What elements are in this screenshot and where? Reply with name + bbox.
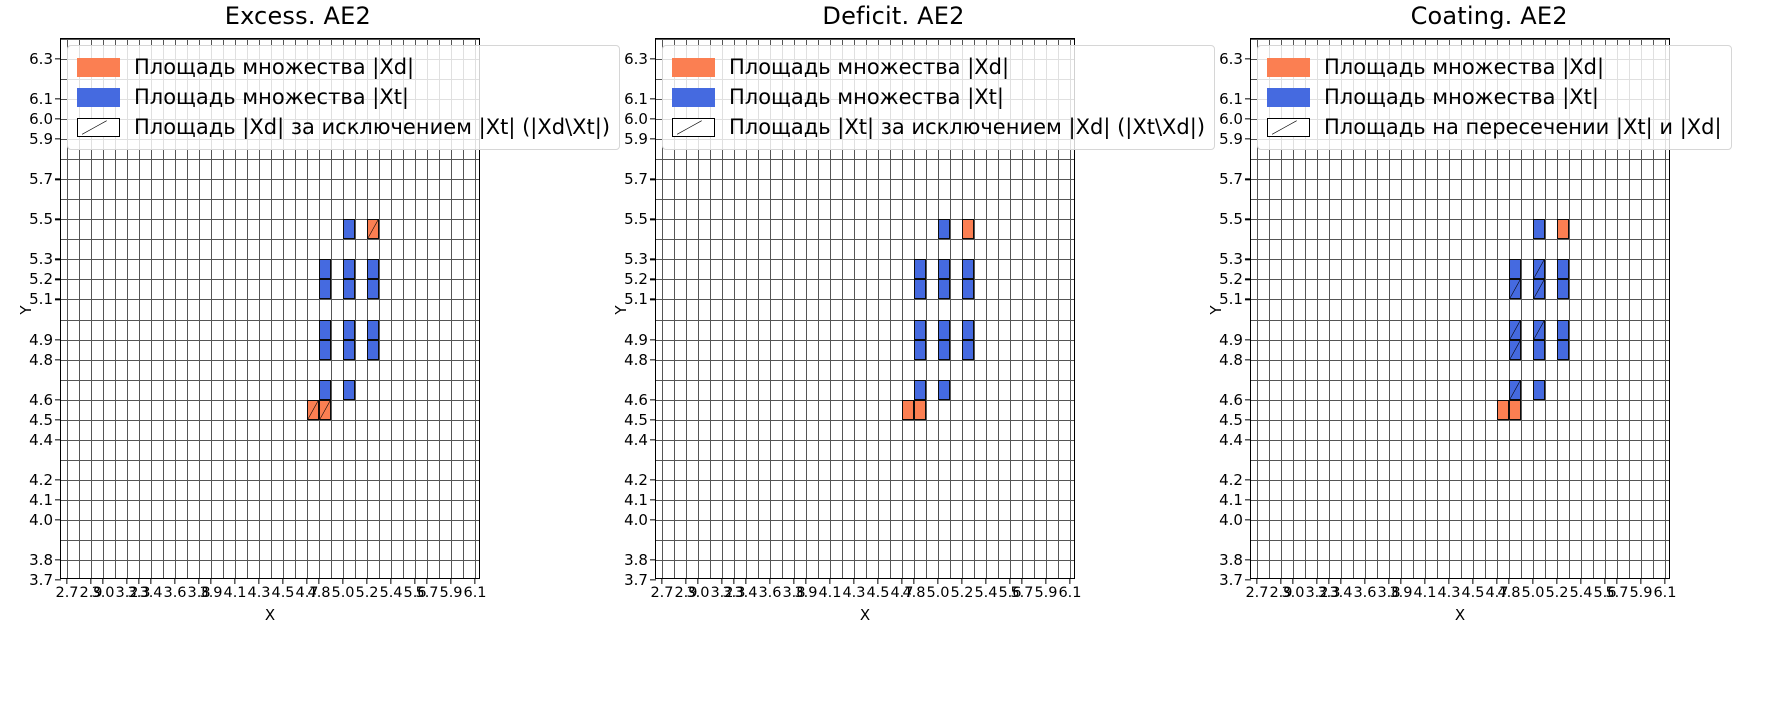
x-tick-mark: [198, 578, 199, 584]
y-tick-label: 5.5: [29, 210, 53, 228]
panel-deficit: Deficit. AE26.36.16.05.95.75.55.35.25.14…: [596, 0, 1192, 709]
x-tick-mark: [150, 578, 151, 584]
y-tick-mark: [55, 139, 61, 140]
legend-swatch-orange-icon: [1267, 58, 1310, 77]
y-tick-label: 6.0: [1219, 110, 1243, 128]
y-tick-mark: [55, 179, 61, 180]
y-tick-label: 4.4: [624, 431, 648, 449]
x-tick-label: 4.5: [271, 585, 294, 601]
grid-cell: [914, 340, 926, 360]
grid-cell-hatched: [1533, 259, 1545, 279]
y-tick-label: 6.1: [1219, 90, 1243, 108]
y-tick-mark: [650, 98, 656, 99]
grid-cell: [914, 279, 926, 299]
x-tick-label: 4.5: [1461, 585, 1484, 601]
grid-cell: [1533, 219, 1545, 239]
x-tick-label: 5.4: [379, 585, 402, 601]
y-tick-label: 4.5: [29, 411, 53, 429]
y-tick-mark: [650, 439, 656, 440]
y-tick-mark: [1245, 98, 1251, 99]
x-tick-label: 2.7: [1245, 585, 1268, 601]
y-tick-mark: [55, 399, 61, 400]
x-tick-mark: [853, 578, 854, 584]
figure-canvas: Excess. AE26.36.16.05.95.75.55.35.25.14.…: [0, 0, 1787, 709]
legend-entry: Площадь |Xt| за исключением |Xd| (|Xt\Xd…: [672, 112, 1205, 142]
y-tick-label: 6.0: [624, 110, 648, 128]
legend-entry: Площадь множества |Xd|: [77, 52, 610, 82]
y-tick-label: 6.0: [29, 110, 53, 128]
x-tick-label: 6.1: [1058, 585, 1081, 601]
y-tick-mark: [55, 419, 61, 420]
y-tick-label: 5.3: [1219, 250, 1243, 268]
y-tick-mark: [1245, 339, 1251, 340]
y-tick-label: 6.3: [624, 50, 648, 68]
x-tick-label: 4.8: [307, 585, 330, 601]
y-tick-label: 6.3: [29, 50, 53, 68]
legend-deficit[interactable]: Площадь множества |Xd|Площадь множества …: [662, 45, 1215, 150]
x-tick-label: 3.0: [1281, 585, 1304, 601]
x-tick-mark: [1640, 578, 1641, 584]
x-tick-mark: [318, 578, 319, 584]
x-tick-mark: [1664, 578, 1665, 584]
y-tick-mark: [650, 579, 656, 580]
y-tick-label: 4.4: [29, 431, 53, 449]
y-tick-mark: [1245, 359, 1251, 360]
x-tick-label: 3.9: [794, 585, 817, 601]
x-tick-label: 5.2: [950, 585, 973, 601]
y-tick-mark: [1245, 179, 1251, 180]
y-tick-label: 4.8: [29, 351, 53, 369]
y-axis-label: Y: [612, 305, 630, 314]
grid-cell-hatched: [1533, 320, 1545, 340]
y-tick-mark: [650, 399, 656, 400]
x-tick-label: 3.6: [1353, 585, 1376, 601]
y-tick-label: 4.0: [1219, 511, 1243, 529]
legend-entry: Площадь на пересечении |Xt| и |Xd|: [1267, 112, 1722, 142]
x-tick-label: 6.1: [1653, 585, 1676, 601]
y-tick-label: 3.7: [29, 571, 53, 589]
y-tick-mark: [55, 579, 61, 580]
x-tick-mark: [1616, 578, 1617, 584]
panel-coating: Coating. AE26.36.16.05.95.75.55.35.25.14…: [1191, 0, 1787, 709]
x-tick-label: 3.9: [1389, 585, 1412, 601]
x-tick-mark: [913, 578, 914, 584]
legend-swatch-hatch-icon: [77, 118, 120, 137]
x-tick-label: 5.0: [1521, 585, 1544, 601]
x-tick-label: 4.1: [818, 585, 841, 601]
y-tick-label: 5.2: [1219, 270, 1243, 288]
y-tick-mark: [55, 359, 61, 360]
x-tick-mark: [745, 578, 746, 584]
grid-cell: [1557, 259, 1569, 279]
x-tick-label: 3.6: [758, 585, 781, 601]
y-tick-label: 4.0: [624, 511, 648, 529]
y-tick-label: 5.9: [1219, 130, 1243, 148]
y-tick-mark: [1245, 579, 1251, 580]
x-tick-mark: [1045, 578, 1046, 584]
grid-cell: [962, 259, 974, 279]
y-tick-mark: [1245, 118, 1251, 119]
y-tick-mark: [650, 259, 656, 260]
legend-label: Площадь |Xt| за исключением |Xd| (|Xt\Xd…: [729, 117, 1205, 138]
plot-area-excess: 6.36.16.05.95.75.55.35.25.14.94.84.64.54…: [60, 38, 480, 579]
y-tick-label: 4.6: [29, 391, 53, 409]
x-tick-label: 4.8: [1497, 585, 1520, 601]
legend-swatch-hatch-icon: [1267, 118, 1310, 137]
x-tick-label: 4.3: [247, 585, 270, 601]
x-tick-label: 6.1: [463, 585, 486, 601]
x-tick-mark: [306, 578, 307, 584]
x-tick-mark: [1448, 578, 1449, 584]
y-tick-mark: [650, 339, 656, 340]
legend-swatch-orange-icon: [77, 58, 120, 77]
x-tick-mark: [1280, 578, 1281, 584]
y-tick-label: 4.2: [624, 471, 648, 489]
y-tick-mark: [1245, 279, 1251, 280]
y-tick-mark: [55, 118, 61, 119]
y-tick-mark: [1245, 559, 1251, 560]
x-tick-mark: [1328, 578, 1329, 584]
x-tick-mark: [126, 578, 127, 584]
y-tick-mark: [55, 279, 61, 280]
y-tick-mark: [1245, 219, 1251, 220]
y-tick-mark: [650, 419, 656, 420]
y-tick-mark: [1245, 499, 1251, 500]
grid-cell: [367, 340, 379, 360]
plot-area-coating: 6.36.16.05.95.75.55.35.25.14.94.84.64.54…: [1250, 38, 1670, 579]
panel-title-excess: Excess. AE2: [0, 2, 596, 30]
x-tick-mark: [721, 578, 722, 584]
y-tick-label: 4.6: [1219, 391, 1243, 409]
y-tick-label: 4.4: [1219, 431, 1243, 449]
x-tick-mark: [1021, 578, 1022, 584]
y-tick-label: 4.2: [1219, 471, 1243, 489]
legend-swatch-blue-icon: [77, 88, 120, 107]
y-tick-mark: [650, 139, 656, 140]
x-tick-mark: [1069, 578, 1070, 584]
x-tick-mark: [1532, 578, 1533, 584]
x-tick-label: 2.7: [650, 585, 673, 601]
legend-label: Площадь множества |Xt|: [729, 87, 1004, 108]
x-tick-mark: [1316, 578, 1317, 584]
y-tick-mark: [650, 479, 656, 480]
grid-cell: [343, 380, 355, 400]
x-tick-mark: [210, 578, 211, 584]
legend-coating[interactable]: Площадь множества |Xd|Площадь множества …: [1257, 45, 1732, 150]
y-tick-label: 5.5: [624, 210, 648, 228]
x-tick-label: 5.7: [1605, 585, 1628, 601]
legend-entry: Площадь множества |Xd|: [672, 52, 1205, 82]
y-tick-mark: [650, 359, 656, 360]
grid-cell: [914, 380, 926, 400]
grid-cell: [938, 259, 950, 279]
grid-cell: [319, 380, 331, 400]
grid-cell: [1497, 400, 1509, 420]
legend-label: Площадь |Xd| за исключением |Xt| (|Xd\Xt…: [134, 117, 610, 138]
y-tick-mark: [1245, 519, 1251, 520]
legend-excess[interactable]: Площадь множества |Xd|Площадь множества …: [67, 45, 620, 150]
x-tick-mark: [390, 578, 391, 584]
y-tick-label: 5.5: [1219, 210, 1243, 228]
y-tick-mark: [55, 259, 61, 260]
y-tick-mark: [55, 499, 61, 500]
y-tick-label: 4.1: [29, 491, 53, 509]
grid-cell: [367, 320, 379, 340]
x-tick-mark: [102, 578, 103, 584]
legend-entry: Площадь множества |Xd|: [1267, 52, 1722, 82]
y-tick-label: 5.7: [29, 170, 53, 188]
y-tick-label: 3.7: [1219, 571, 1243, 589]
y-tick-label: 4.5: [624, 411, 648, 429]
legend-swatch-orange-icon: [672, 58, 715, 77]
legend-swatch-blue-icon: [1267, 88, 1310, 107]
x-tick-mark: [877, 578, 878, 584]
x-tick-mark: [414, 578, 415, 584]
x-tick-label: 4.3: [842, 585, 865, 601]
x-tick-mark: [342, 578, 343, 584]
x-tick-mark: [1388, 578, 1389, 584]
grid-cell: [938, 320, 950, 340]
legend-entry: Площадь множества |Xt|: [77, 82, 610, 112]
y-tick-mark: [1245, 399, 1251, 400]
grid-cell: [1557, 340, 1569, 360]
x-tick-mark: [234, 578, 235, 584]
legend-label: Площадь множества |Xd|: [134, 57, 414, 78]
grid-cell-hatched: [319, 400, 331, 420]
x-tick-mark: [985, 578, 986, 584]
grid-cell: [1557, 320, 1569, 340]
y-tick-mark: [55, 559, 61, 560]
y-tick-mark: [1245, 58, 1251, 59]
grid-cell: [343, 279, 355, 299]
grid-cell: [914, 320, 926, 340]
y-tick-label: 5.2: [624, 270, 648, 288]
x-tick-mark: [1496, 578, 1497, 584]
y-tick-mark: [55, 299, 61, 300]
grid-cell: [1533, 380, 1545, 400]
x-tick-mark: [805, 578, 806, 584]
y-tick-label: 4.0: [29, 511, 53, 529]
y-tick-mark: [650, 499, 656, 500]
legend-label: Площадь множества |Xt|: [1324, 87, 1599, 108]
x-tick-mark: [1580, 578, 1581, 584]
x-tick-label: 3.6: [163, 585, 186, 601]
grid-cell: [1557, 219, 1569, 239]
y-tick-label: 4.8: [624, 351, 648, 369]
y-tick-label: 3.7: [624, 571, 648, 589]
grid-cell: [343, 219, 355, 239]
legend-entry: Площадь |Xd| за исключением |Xt| (|Xd\Xt…: [77, 112, 610, 142]
x-tick-label: 3.0: [686, 585, 709, 601]
y-tick-mark: [55, 479, 61, 480]
x-axis-label: X: [1251, 606, 1669, 624]
x-tick-mark: [901, 578, 902, 584]
x-tick-mark: [138, 578, 139, 584]
x-tick-label: 4.5: [866, 585, 889, 601]
x-tick-label: 3.9: [199, 585, 222, 601]
grid-cell: [319, 279, 331, 299]
x-tick-label: 4.1: [223, 585, 246, 601]
y-tick-mark: [1245, 299, 1251, 300]
legend-label: Площадь множества |Xt|: [134, 87, 409, 108]
x-tick-label: 4.8: [902, 585, 925, 601]
y-tick-mark: [1245, 139, 1251, 140]
grid-cell: [938, 279, 950, 299]
x-tick-mark: [1508, 578, 1509, 584]
y-tick-label: 4.2: [29, 471, 53, 489]
y-tick-label: 5.3: [624, 250, 648, 268]
grid-cell-hatched: [1509, 340, 1521, 360]
x-tick-label: 3.4: [734, 585, 757, 601]
y-tick-mark: [650, 58, 656, 59]
plot-area-deficit: 6.36.16.05.95.75.55.35.25.14.94.84.64.54…: [655, 38, 1075, 579]
x-tick-label: 5.9: [439, 585, 462, 601]
y-tick-mark: [55, 439, 61, 440]
grid-cell: [1509, 400, 1521, 420]
x-tick-mark: [282, 578, 283, 584]
y-tick-mark: [1245, 439, 1251, 440]
legend-label: Площадь множества |Xd|: [729, 57, 1009, 78]
x-tick-mark: [474, 578, 475, 584]
panel-excess: Excess. AE26.36.16.05.95.75.55.35.25.14.…: [0, 0, 596, 709]
y-tick-label: 6.3: [1219, 50, 1243, 68]
x-tick-label: 5.7: [415, 585, 438, 601]
y-tick-label: 3.8: [624, 551, 648, 569]
x-tick-mark: [1424, 578, 1425, 584]
y-tick-label: 5.7: [624, 170, 648, 188]
x-tick-label: 5.2: [1545, 585, 1568, 601]
y-tick-label: 5.3: [29, 250, 53, 268]
legend-entry: Площадь множества |Xt|: [1267, 82, 1722, 112]
grid-cell: [902, 400, 914, 420]
grid-cell: [367, 259, 379, 279]
grid-cell: [1533, 340, 1545, 360]
y-tick-mark: [1245, 419, 1251, 420]
y-tick-mark: [650, 519, 656, 520]
panel-title-deficit: Deficit. AE2: [596, 2, 1192, 30]
y-tick-label: 5.2: [29, 270, 53, 288]
x-tick-mark: [829, 578, 830, 584]
grid-cell-hatched: [1509, 380, 1521, 400]
grid-cell: [319, 340, 331, 360]
legend-label: Площадь множества |Xd|: [1324, 57, 1604, 78]
y-tick-mark: [650, 559, 656, 560]
x-tick-mark: [1556, 578, 1557, 584]
y-tick-mark: [55, 339, 61, 340]
grid-cell: [962, 279, 974, 299]
x-tick-mark: [1472, 578, 1473, 584]
x-tick-mark: [1604, 578, 1605, 584]
y-tick-mark: [55, 98, 61, 99]
legend-swatch-blue-icon: [672, 88, 715, 107]
x-tick-label: 5.0: [926, 585, 949, 601]
panel-title-coating: Coating. AE2: [1191, 2, 1787, 30]
grid-cell: [367, 279, 379, 299]
y-tick-label: 5.9: [29, 130, 53, 148]
y-tick-mark: [650, 118, 656, 119]
grid-cell: [319, 259, 331, 279]
grid-cell: [962, 340, 974, 360]
x-tick-mark: [733, 578, 734, 584]
legend-entry: Площадь множества |Xt|: [672, 82, 1205, 112]
x-tick-label: 2.7: [55, 585, 78, 601]
x-tick-mark: [1364, 578, 1365, 584]
grid-cell-hatched: [1509, 320, 1521, 340]
y-tick-mark: [650, 299, 656, 300]
legend-label: Площадь на пересечении |Xt| и |Xd|: [1324, 117, 1722, 138]
x-tick-mark: [1340, 578, 1341, 584]
grid-cell-hatched: [1509, 279, 1521, 299]
y-tick-label: 4.1: [1219, 491, 1243, 509]
x-tick-mark: [961, 578, 962, 584]
y-tick-mark: [1245, 479, 1251, 480]
x-tick-mark: [769, 578, 770, 584]
grid-cell: [914, 259, 926, 279]
x-tick-label: 3.4: [1329, 585, 1352, 601]
x-tick-mark: [937, 578, 938, 584]
y-tick-label: 3.8: [1219, 551, 1243, 569]
y-tick-mark: [55, 519, 61, 520]
x-tick-label: 3.0: [91, 585, 114, 601]
x-tick-mark: [697, 578, 698, 584]
y-tick-label: 4.9: [624, 331, 648, 349]
grid-cell: [914, 400, 926, 420]
x-tick-mark: [685, 578, 686, 584]
grid-cell: [938, 219, 950, 239]
y-axis-label: Y: [17, 305, 35, 314]
y-tick-label: 4.6: [624, 391, 648, 409]
y-tick-label: 4.8: [1219, 351, 1243, 369]
x-tick-label: 5.4: [974, 585, 997, 601]
x-axis-label: X: [61, 606, 479, 624]
x-tick-label: 5.2: [355, 585, 378, 601]
grid-cell: [343, 320, 355, 340]
y-tick-label: 6.1: [624, 90, 648, 108]
x-tick-mark: [426, 578, 427, 584]
y-tick-mark: [55, 58, 61, 59]
grid-cell: [343, 259, 355, 279]
x-tick-mark: [793, 578, 794, 584]
y-tick-label: 4.9: [29, 331, 53, 349]
x-tick-mark: [661, 578, 662, 584]
grid-cell: [962, 320, 974, 340]
grid-cell: [343, 340, 355, 360]
x-tick-label: 5.7: [1010, 585, 1033, 601]
y-tick-label: 4.1: [624, 491, 648, 509]
grid-cell: [1509, 259, 1521, 279]
legend-swatch-hatch-icon: [672, 118, 715, 137]
y-tick-label: 4.9: [1219, 331, 1243, 349]
x-tick-mark: [1400, 578, 1401, 584]
x-tick-mark: [1009, 578, 1010, 584]
x-tick-label: 5.9: [1034, 585, 1057, 601]
x-tick-label: 3.4: [139, 585, 162, 601]
x-tick-label: 4.1: [1413, 585, 1436, 601]
grid-cell-hatched: [1533, 279, 1545, 299]
grid-cell: [1557, 279, 1569, 299]
grid-cell: [938, 340, 950, 360]
x-tick-label: 4.3: [1437, 585, 1460, 601]
x-tick-mark: [90, 578, 91, 584]
x-tick-mark: [258, 578, 259, 584]
x-axis-label: X: [656, 606, 1074, 624]
x-tick-label: 5.4: [1569, 585, 1592, 601]
y-tick-label: 5.9: [624, 130, 648, 148]
y-axis-label: Y: [1207, 305, 1225, 314]
x-tick-mark: [66, 578, 67, 584]
x-tick-mark: [366, 578, 367, 584]
x-tick-label: 5.0: [331, 585, 354, 601]
